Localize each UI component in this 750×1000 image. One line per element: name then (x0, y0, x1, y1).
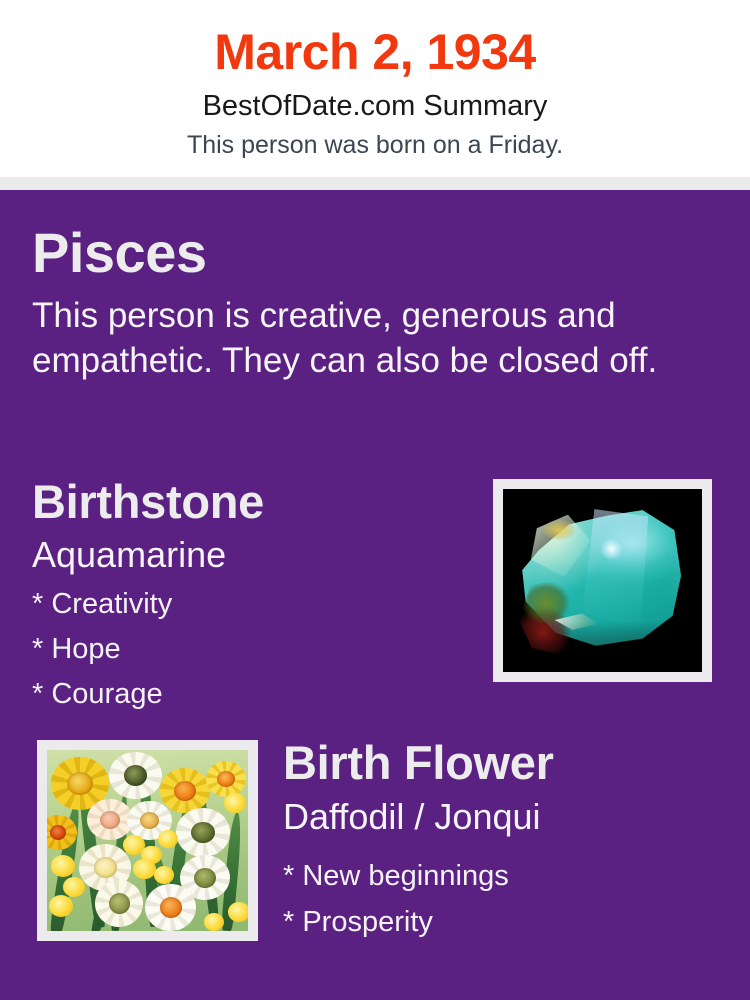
daffodil-field-image (47, 750, 248, 931)
aquamarine-crystal-image (503, 489, 702, 672)
crystal-facet (583, 509, 649, 630)
header-divider (0, 177, 750, 190)
page-title-date: March 2, 1934 (0, 22, 750, 82)
daffodil-bloom (206, 761, 246, 797)
zodiac-sign-title: Pisces (32, 222, 207, 284)
site-name: BestOfDate.com Summary (0, 88, 750, 124)
daffodil-bloom (176, 808, 230, 857)
daffodil-mini-bloom (158, 830, 178, 848)
daffodil-bloom (145, 884, 195, 931)
daffodil-mini-bloom (133, 859, 155, 879)
list-item: * Hope (32, 627, 462, 672)
birthday-summary-card: March 2, 1934 BestOfDate.com Summary Thi… (0, 0, 750, 1000)
zodiac-description: This person is creative, generous and em… (32, 293, 716, 383)
crystal-inclusion (543, 520, 575, 540)
birth-flower-image-frame (37, 740, 258, 941)
birthstone-name: Aquamarine (32, 533, 226, 577)
birth-weekday-note: This person was born on a Friday. (0, 129, 750, 161)
daffodil-bloom (109, 752, 161, 799)
crystal-shadow (515, 621, 686, 661)
list-item: * Creativity (32, 582, 462, 627)
list-item: * New beginnings (283, 853, 723, 899)
birth-flower-heading: Birth Flower (283, 736, 554, 790)
birthstone-heading: Birthstone (32, 475, 264, 529)
daffodil-mini-bloom (204, 913, 224, 931)
daffodil-bloom (95, 880, 143, 927)
birth-flower-traits-list: * New beginnings * Prosperity (283, 853, 723, 945)
daffodil-mini-bloom (51, 855, 75, 877)
daffodil-mini-bloom (154, 866, 174, 884)
daffodil-mini-bloom (224, 793, 246, 813)
birthstone-traits-list: * Creativity * Hope * Courage (32, 582, 462, 717)
list-item: * Prosperity (283, 899, 723, 945)
birthstone-image-frame (493, 479, 712, 682)
daffodil-mini-bloom (49, 895, 73, 917)
daffodil-mini-bloom (63, 877, 85, 897)
birth-flower-name: Daffodil / Jonqui (283, 795, 541, 839)
list-item: * Courage (32, 672, 462, 717)
header: March 2, 1934 BestOfDate.com Summary Thi… (0, 0, 750, 177)
daffodil-mini-bloom (228, 902, 248, 922)
daffodil-bloom (160, 768, 210, 813)
